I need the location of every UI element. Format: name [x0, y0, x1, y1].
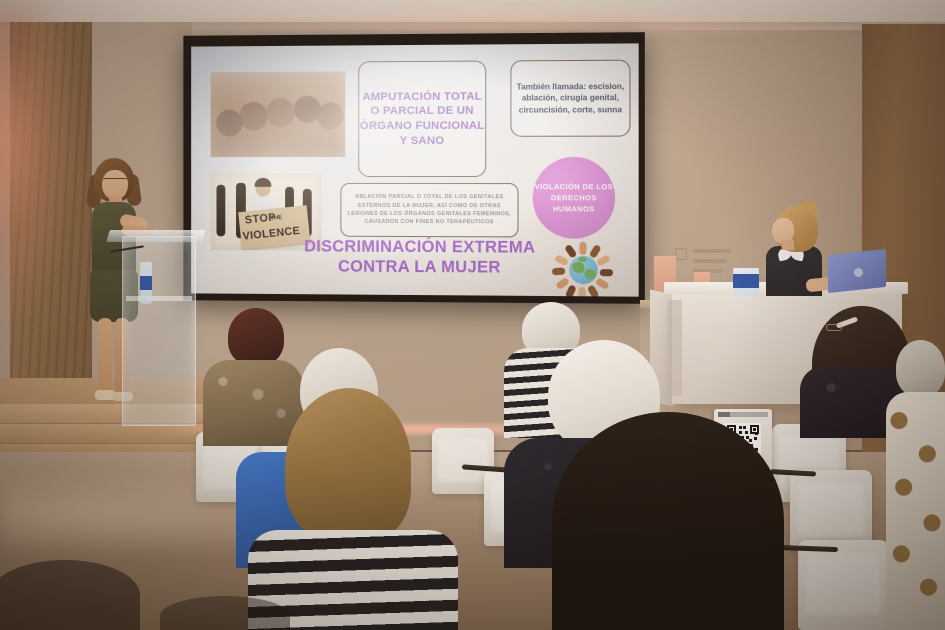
slide-human-rights-circle: VIOLACIÓN DE LOS DERECHOS HUMANOS: [533, 157, 615, 239]
conference-room-photo: STOP THE VIOLENCE AMPUTACIÓN TOTAL O PAR…: [0, 0, 945, 630]
placard-line-3: VIOLENCE: [242, 225, 301, 243]
audience-9-hair: [896, 340, 945, 396]
ambient-light-glow-left: [0, 0, 80, 330]
lectern-shelf: [126, 296, 192, 301]
qr-sign-title: [718, 412, 768, 417]
screen-surface: STOP THE VIOLENCE AMPUTACIÓN TOTAL O PAR…: [191, 43, 639, 296]
desk-water-bottle-label: [733, 274, 759, 288]
foreground-shadow-left: [0, 560, 140, 630]
chair: [790, 470, 872, 550]
audience-4-hair: [285, 388, 411, 542]
slide-alias-text: También llamada: escision, ablación, cir…: [511, 80, 629, 116]
slide-alias-box: También llamada: escision, ablación, cir…: [510, 60, 630, 137]
slide-main-statement-text: AMPUTACIÓN TOTAL O PARCIAL DE UN ÓRGANO …: [359, 89, 485, 148]
lectern: [122, 236, 196, 426]
laptop-logo-icon: [854, 268, 863, 277]
lectern-top: [106, 230, 205, 242]
protest-man-hair: [255, 178, 272, 187]
audience-1-hair: [228, 308, 284, 366]
laptop: [828, 252, 886, 294]
chair: [798, 540, 888, 630]
globe-icon: [569, 256, 598, 284]
foreground-shadow-center: [160, 596, 290, 630]
projector-screen: STOP THE VIOLENCE AMPUTACIÓN TOTAL O PAR…: [183, 32, 644, 304]
presentation-slide: STOP THE VIOLENCE AMPUTACIÓN TOTAL O PAR…: [191, 43, 639, 296]
glasses-icon: [103, 178, 127, 183]
audience-member-7-silhouette: [552, 412, 784, 630]
globe-people-icon: [553, 242, 614, 297]
audience-1-top: [203, 360, 303, 446]
desk-front-panel: [668, 300, 682, 396]
placard-line-2: THE: [270, 215, 282, 222]
slide-definition-text: ABLACIÓN PARCIAL O TOTAL DE LOS GENITALE…: [341, 193, 517, 227]
presenter-shoe-left: [95, 390, 115, 400]
slide-definition-box: ABLACIÓN PARCIAL O TOTAL DE LOS GENITALE…: [340, 183, 518, 237]
slide-headline: DISCRIMINACIÓN EXTREMA CONTRA LA MUJER: [295, 237, 545, 279]
glasses-icon: [826, 324, 842, 331]
slide-main-statement-box: AMPUTACIÓN TOTAL O PARCIAL DE UN ÓRGANO …: [358, 61, 486, 178]
water-bottle-label: [140, 276, 152, 290]
slide-human-rights-text: VIOLACIÓN DE LOS DERECHOS HUMANOS: [533, 181, 615, 215]
protest-figure-1: [216, 185, 225, 236]
slide-photo-girls: [211, 71, 346, 157]
audience-9-polka-dot-top: [886, 392, 945, 630]
moderator-at-desk: [762, 206, 836, 298]
wall-sign-icon: [675, 248, 687, 260]
